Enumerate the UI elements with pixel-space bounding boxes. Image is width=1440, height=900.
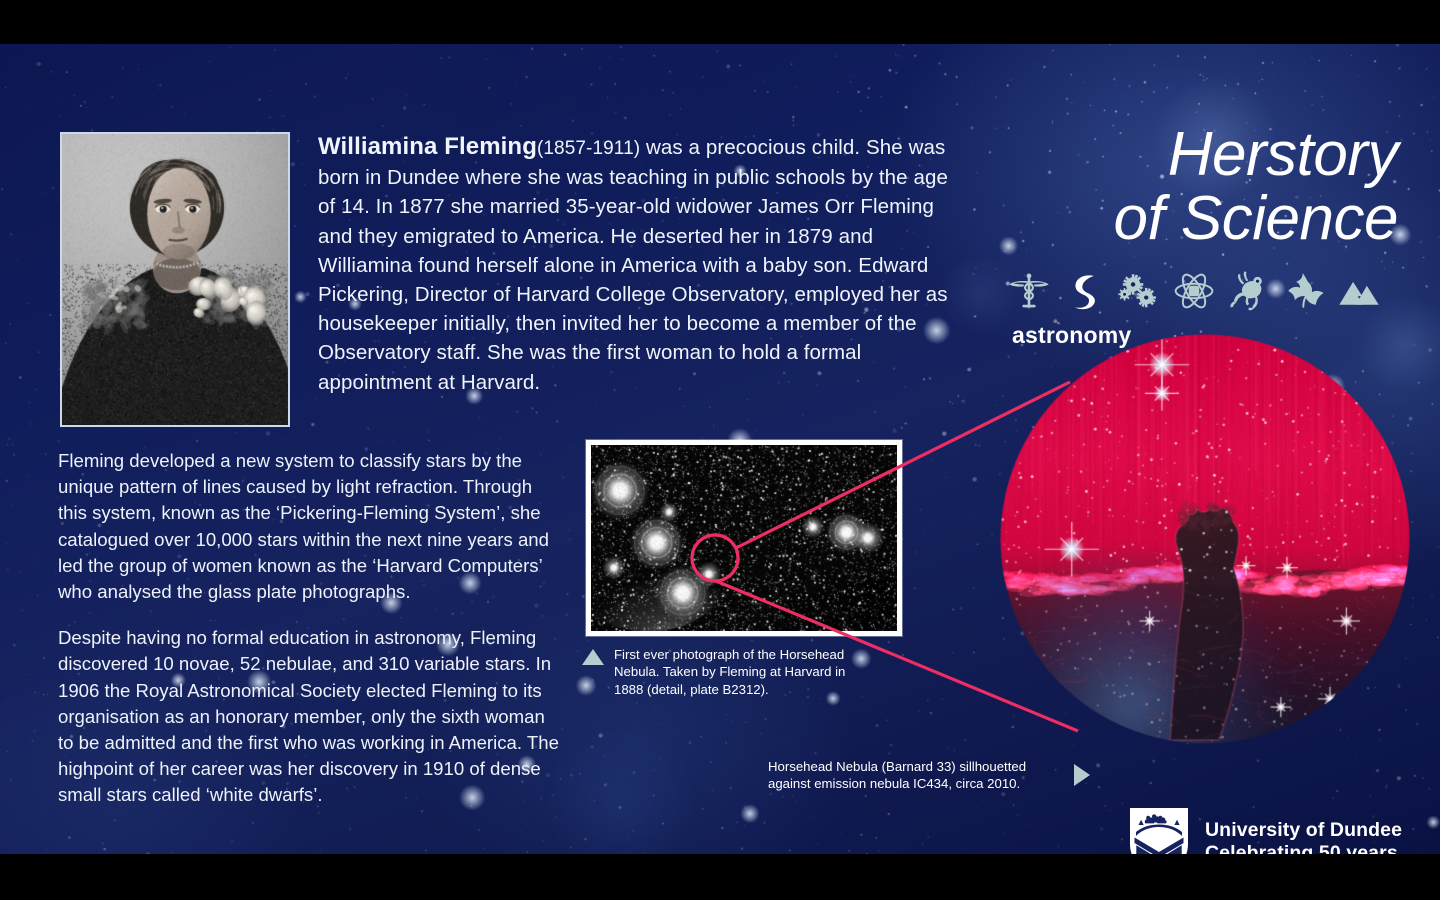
wordmark: Herstory of Science: [1008, 126, 1398, 248]
horsehead-caption: Horsehead Nebula (Barnard 33) sillhouett…: [768, 758, 1090, 793]
university-of-dundee-logo: University of Dundee Celebrating 50 year…: [1128, 806, 1402, 854]
wordmark-line-1: Herstory: [1008, 126, 1398, 184]
glass-plate-photo: [591, 445, 897, 631]
wordmark-of: of: [1113, 184, 1180, 253]
discipline-icon-row: [1008, 270, 1398, 312]
university-name: University of Dundee: [1205, 819, 1402, 842]
poster-stage: Williamina Fleming(1857-1911) was a prec…: [0, 44, 1440, 854]
caduceus-icon[interactable]: [1008, 270, 1050, 312]
wordmark-her: Her: [1168, 120, 1266, 189]
subject-name: Williamina Fleming: [318, 133, 537, 160]
university-tagline: Celebrating 50 years: [1205, 842, 1402, 854]
horsehead-image: [1000, 334, 1410, 744]
portrait-photo: [60, 132, 290, 427]
mountains-icon[interactable]: [1338, 270, 1380, 312]
wordmark-line-2: of Science: [1008, 190, 1398, 248]
body-paragraph-2: Despite having no formal education in as…: [58, 625, 563, 808]
dundee-shield-icon: [1128, 806, 1190, 854]
wordmark-science: Science: [1181, 184, 1398, 253]
glass-plate-caption-text: First ever photograph of the Horsehead N…: [614, 646, 852, 698]
university-wordmark: University of Dundee Celebrating 50 year…: [1205, 819, 1402, 854]
glass-plate-image: [591, 445, 897, 631]
body-paragraph-1: Fleming developed a new system to classi…: [58, 448, 563, 605]
leaf-icon[interactable]: [1283, 270, 1325, 312]
wordmark-story: story: [1266, 120, 1398, 189]
letterbox-bottom: [0, 854, 1440, 900]
atom-icon[interactable]: [1173, 270, 1215, 312]
gears-icon[interactable]: [1118, 270, 1160, 312]
triangle-right-icon: [1074, 764, 1090, 786]
portrait-image: [62, 134, 290, 427]
horsehead-caption-text: Horsehead Nebula (Barnard 33) sillhouett…: [768, 758, 1062, 793]
herstory-logo-block: Herstory of Science: [1008, 126, 1398, 349]
bio-intro-text: was a precocious child. She was born in …: [318, 136, 948, 394]
bio-paragraph: Williamina Fleming(1857-1911) was a prec…: [318, 132, 958, 397]
letterbox-top: [0, 0, 1440, 44]
triangle-up-icon: [582, 649, 604, 665]
subject-dates: (1857-1911): [537, 138, 640, 159]
body-text-column: Fleming developed a new system to classi…: [58, 448, 563, 809]
horsehead-nebula-photo: [1000, 334, 1410, 744]
poster-canvas: Williamina Fleming(1857-1911) was a prec…: [0, 0, 1440, 900]
comet-icon[interactable]: [1063, 270, 1105, 312]
frog-icon[interactable]: [1228, 270, 1270, 312]
glass-plate-photo-frame: [586, 440, 902, 636]
glass-plate-caption: First ever photograph of the Horsehead N…: [582, 646, 852, 698]
